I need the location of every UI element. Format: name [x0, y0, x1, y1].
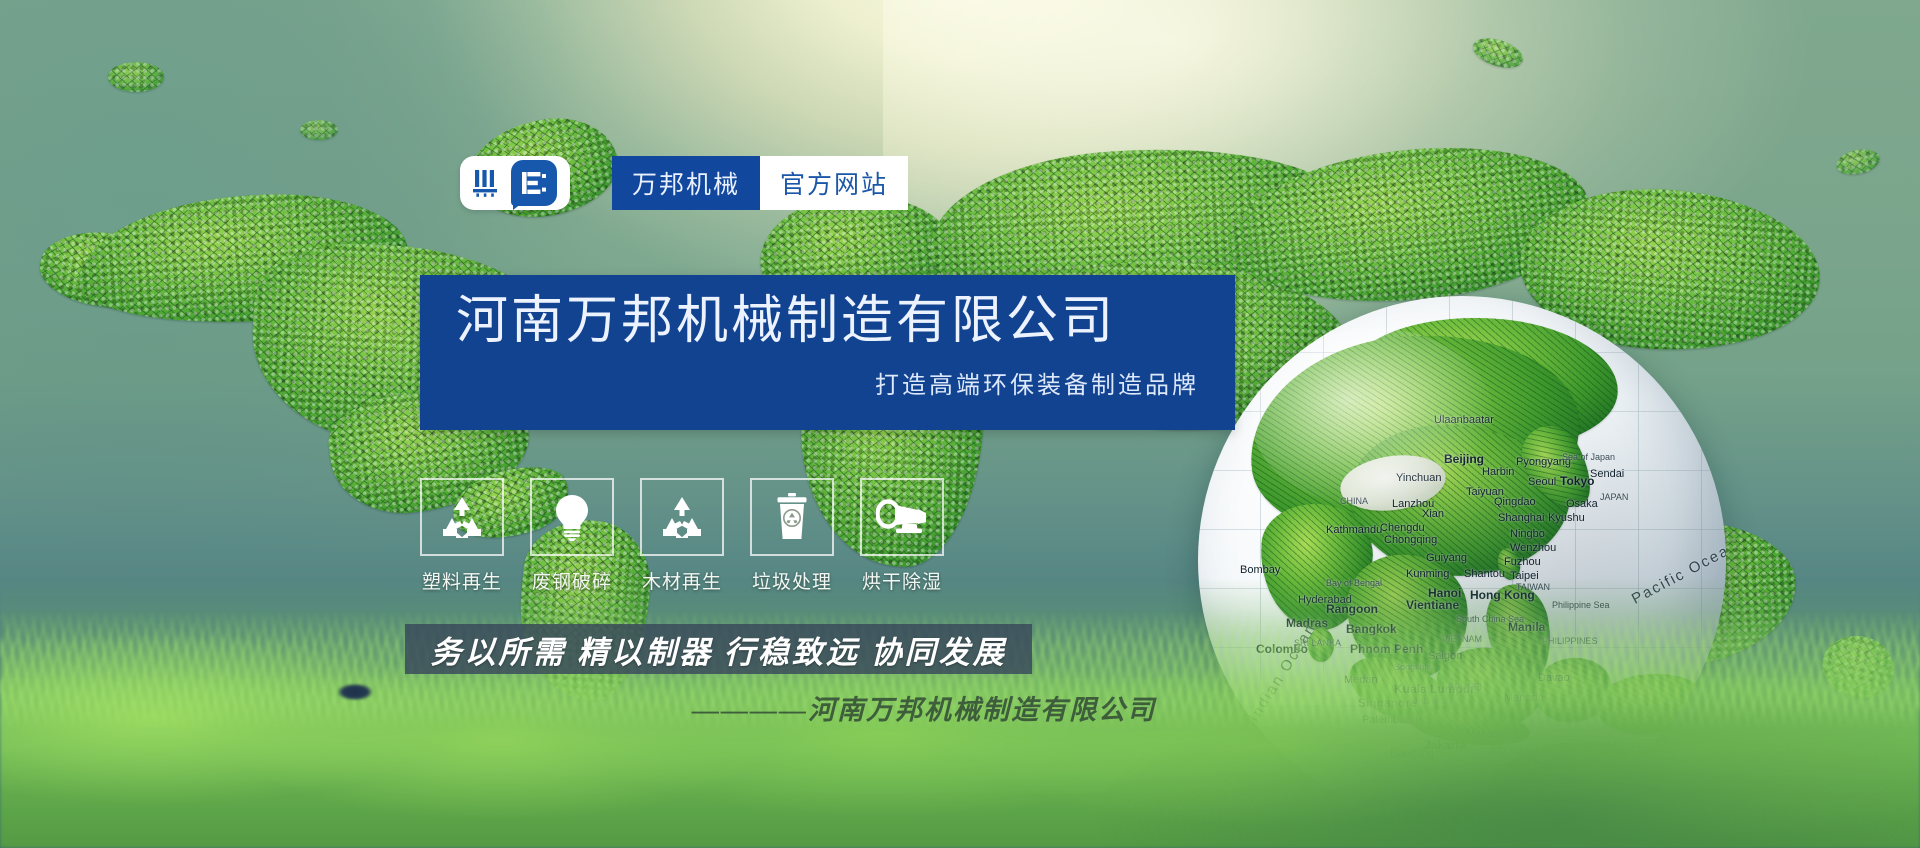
company-title-panel: 河南万邦机械制造有限公司 打造高端环保装备制造品牌 — [420, 275, 1235, 430]
grass-insect — [338, 684, 372, 700]
feature-icon-box — [640, 478, 724, 556]
globe-label-wenzhou: Wenzhou — [1510, 542, 1556, 554]
logo-b-icon — [521, 171, 547, 195]
globe-label-shanghai: Shanghai — [1498, 512, 1545, 524]
globe-label-guiyang: Guiyang — [1426, 552, 1467, 564]
slogan-attribution: ————河南万邦机械制造有限公司 — [692, 688, 1156, 727]
lightbulb-icon — [553, 493, 591, 541]
feature-plastic-recycling[interactable]: 塑料再生 — [420, 478, 504, 594]
feature-icon-box — [860, 478, 944, 556]
feature-icon-box — [530, 478, 614, 556]
globe-label-yinchuan: Yinchuan — [1396, 472, 1441, 484]
feature-label: 木材再生 — [642, 567, 722, 594]
slogan-text: 务以所需 精以制器 行稳致远 协同发展 — [430, 627, 1006, 672]
brand-tabs: 万邦机械 官方网站 — [612, 156, 908, 210]
globe-label-taiyuan: Taiyuan — [1466, 486, 1504, 498]
dryer-blower-icon — [876, 499, 928, 535]
globe-label-kathmandu: Kathmandu — [1326, 524, 1382, 536]
globe-label-sendai: Sendai — [1590, 468, 1624, 480]
globe-label-ulaanbaatar: Ulaanbaatar — [1434, 414, 1494, 426]
globe-label-chengdu: Chengdu — [1380, 522, 1425, 534]
company-name: 河南万邦机械制造有限公司 — [456, 293, 1199, 349]
globe-label-sea-of-japan: Sea of Japan — [1562, 452, 1615, 462]
leaf-fleck-1 — [108, 62, 164, 92]
feature-icon-row: 塑料再生 废钢破碎 — [420, 478, 944, 594]
globe-label-ningbo: Ningbo — [1510, 528, 1545, 540]
globe-label-beijing: Beijing — [1444, 452, 1484, 466]
globe-label-xian: Xian — [1422, 508, 1444, 520]
globe-label-bombay: Bombay — [1240, 564, 1280, 576]
recycle-icon — [659, 495, 705, 539]
feature-label: 烘干除湿 — [862, 567, 942, 594]
hero-banner: Ulaanbaatar Beijing Pyongyang Seoul Toky… — [0, 0, 1920, 848]
leaf-fleck-2 — [1469, 33, 1526, 74]
feature-label: 废钢破碎 — [532, 567, 612, 594]
globe-label-harbin: Harbin — [1482, 466, 1514, 478]
globe-label-osaka: Osaka — [1566, 498, 1598, 510]
brand-header: 万邦机械 官方网站 — [460, 156, 908, 210]
grass-shadow-right — [1037, 618, 1920, 848]
recycle-icon — [439, 495, 485, 539]
feature-icon-box — [420, 478, 504, 556]
tab-wanbang-machinery[interactable]: 万邦机械 — [612, 156, 760, 210]
logo-w-icon — [473, 168, 507, 198]
feature-wood-recycling[interactable]: 木材再生 — [640, 478, 724, 594]
feature-label: 塑料再生 — [422, 567, 502, 594]
company-tagline: 打造高端环保装备制造品牌 — [456, 365, 1199, 400]
trash-bin-icon — [775, 493, 809, 541]
globe-label-country-china: CHINA — [1340, 496, 1368, 506]
globe-label-country-japan: JAPAN — [1600, 492, 1628, 502]
globe-label-kyushu: Kyushu — [1548, 512, 1585, 524]
globe-label-chongqing: Chongqing — [1384, 534, 1437, 546]
tab-official-website[interactable]: 官方网站 — [760, 156, 908, 210]
feature-drying-dehumidifying[interactable]: 烘干除湿 — [860, 478, 944, 594]
feature-label: 垃圾处理 — [752, 567, 832, 594]
globe-label-fuzhou: Fuzhou — [1504, 556, 1541, 568]
feature-waste-treatment[interactable]: 垃圾处理 — [750, 478, 834, 594]
feature-scrap-steel-crushing[interactable]: 废钢破碎 — [530, 478, 614, 594]
feature-icon-box — [750, 478, 834, 556]
globe-label-seoul: Seoul — [1528, 476, 1556, 488]
slogan-banner: 务以所需 精以制器 行稳致远 协同发展 — [405, 624, 1032, 674]
leaf-fleck-4 — [300, 120, 338, 140]
logo-speech-bubble — [511, 160, 557, 206]
wanbang-logo-badge[interactable] — [460, 156, 570, 210]
leaf-fleck-3 — [1834, 146, 1882, 179]
